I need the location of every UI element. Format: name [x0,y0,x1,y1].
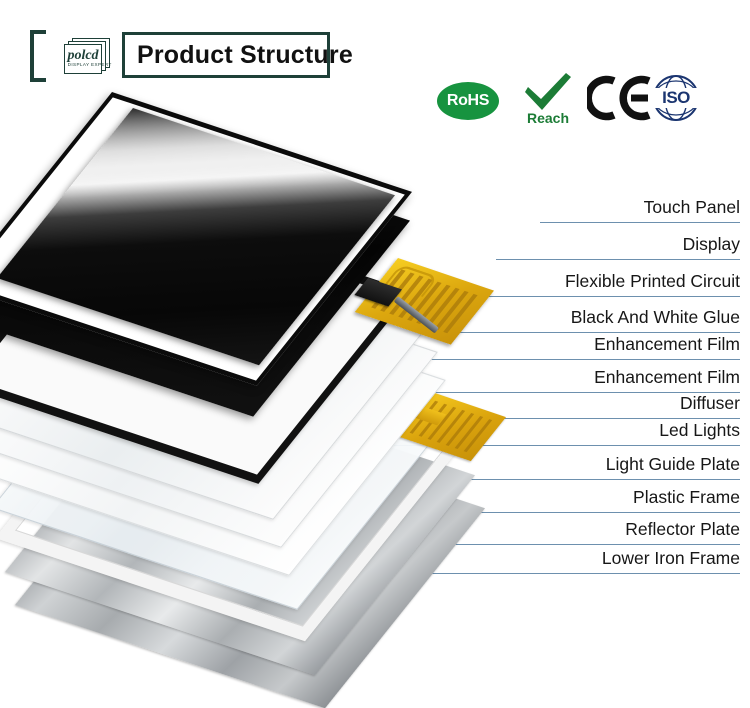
layer-label-text: Flexible Printed Circuit [565,271,740,292]
green-checkmark-icon [517,72,579,112]
certification-badges: RoHS Reach ISO [437,72,717,134]
leader-line [540,222,740,223]
title-bar: polcd DISPLAY EXPERT Product Structure [30,30,330,82]
reach-label: Reach [517,110,579,126]
bracket-decoration [30,30,46,82]
leader-line [430,332,740,333]
logo-wordmark: polcd [66,49,100,63]
polcd-logo: polcd DISPLAY EXPERT [56,38,116,76]
title-box: Product Structure [122,32,330,78]
layer-label-text: Plastic Frame [633,487,740,508]
layer-label-text: Touch Panel [644,197,740,218]
iso-badge: ISO [645,72,707,130]
layer-label-text: Lower Iron Frame [602,548,740,569]
leader-line [388,359,740,360]
iso-label: ISO [645,88,707,108]
logo-tagline: DISPLAY EXPERT [64,62,115,67]
rohs-label: RoHS [447,92,489,110]
rohs-badge: RoHS [437,72,499,130]
layer-label-text: Diffuser [680,393,740,414]
layer-label-text: Black And White Glue [571,307,740,328]
layer-label-text: Display [683,234,740,255]
page-title: Product Structure [137,41,353,70]
layer-label-text: Enhancement Film [594,334,740,355]
layer-label-text: Enhancement Film [594,367,740,388]
reach-badge: Reach [517,72,579,130]
rohs-oval-icon: RoHS [437,82,499,120]
layer-label-text: Reflector Plate [625,519,740,540]
leader-line [468,296,740,297]
layer-label-text: Led Lights [659,420,740,441]
leader-line [496,259,740,260]
layer-label-text: Light Guide Plate [606,454,740,475]
